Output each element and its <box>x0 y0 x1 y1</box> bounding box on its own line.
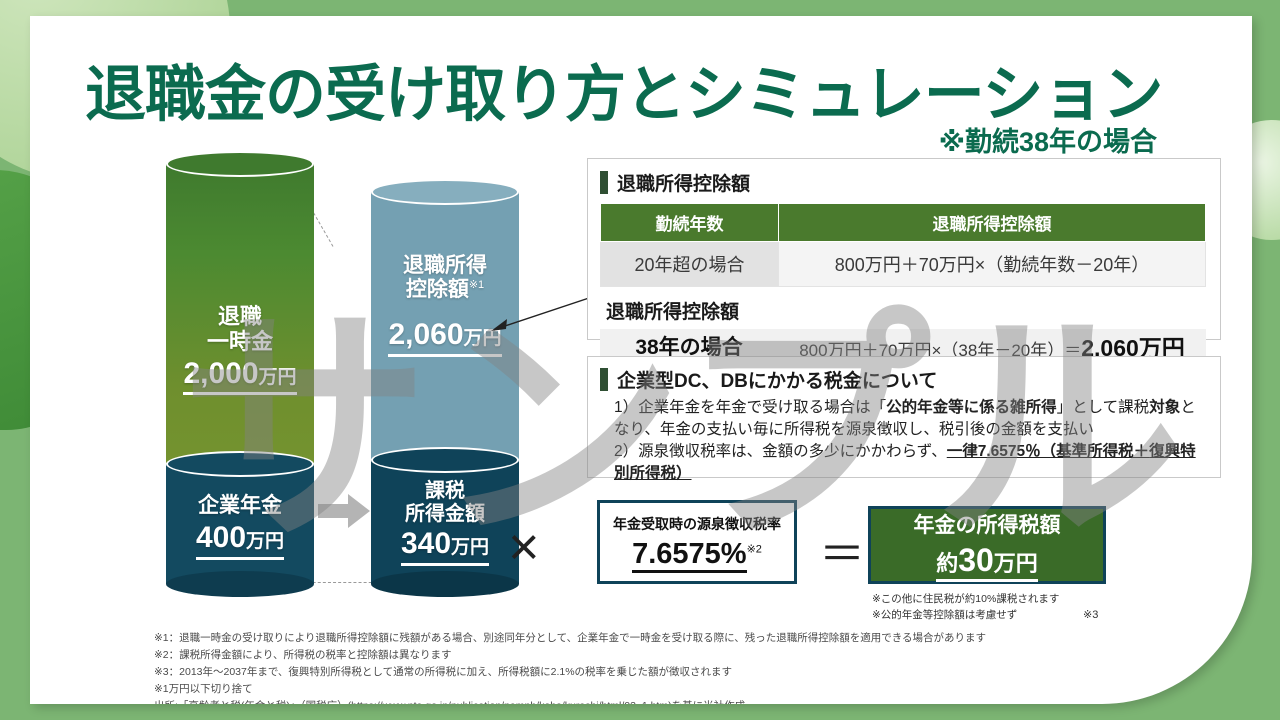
slide-card: 退職金の受け取り方とシミュレーション ※勤続38年の場合 サンプル 退職 一時金… <box>30 16 1252 704</box>
panel-dc-db-tax: 企業型DC、DBにかかる税金について 1）企業年金を年金で受け取る場合は「公的年… <box>587 356 1221 478</box>
box-withholding-rate: 年金受取時の源泉徴収税率 7.6575%※2 <box>597 500 797 584</box>
cylinder-right-bottom-cap <box>371 571 519 597</box>
result-notes: ※この他に住民税が約10%課税されます ※公的年金等控除額は考慮せず <box>872 592 1059 624</box>
multiply-operator: × <box>508 516 540 578</box>
cylinder-label-lump-sum: 退職 一時金 2,000万円 <box>166 304 314 395</box>
flow-arrow-icon <box>318 494 370 528</box>
cylinder-segment-corporate-pension: 企業年金 400万円 <box>166 464 314 584</box>
panel-tax-heading: 企業型DC、DBにかかる税金について <box>600 366 1208 393</box>
footnote-ref-2: ※2 <box>747 543 762 555</box>
cylinder-segment-lump-sum: 退職 一時金 2,000万円 <box>166 164 314 464</box>
cylinder-taxable-breakdown: 退職所得 控除額※1 2,060万円 課税 所得金額 340万円 <box>371 192 519 584</box>
panel-retirement-deduction: 退職所得控除額 勤続年数 退職所得控除額 20年超の場合 800万円＋70万円×… <box>587 158 1221 340</box>
table-header-row: 勤続年数 退職所得控除額 <box>601 204 1206 242</box>
column-header-deduction: 退職所得控除額 <box>779 204 1206 242</box>
cylinder-segment-taxable-income: 課税 所得金額 340万円 <box>371 460 519 584</box>
cylinder-current-benefit: 退職 一時金 2,000万円 企業年金 400万円 <box>166 164 314 584</box>
heading-bar-icon <box>600 171 608 194</box>
footnotes: ※1：退職一時金の受け取りにより退職所得控除額に残額がある場合、別途同年分として… <box>154 630 986 704</box>
cylinder-top-cap <box>166 151 314 177</box>
equals-operator: ＝ <box>819 518 865 584</box>
page-subtitle: ※勤続38年の場合 <box>939 120 1157 159</box>
footnote-3: ※3：2013年～2037年まで、復興特別所得税として通常の所得税に加え、所得税… <box>154 664 986 681</box>
footnote-2: ※2：課税所得金額により、所得税の税率と控除額は異なります <box>154 647 986 664</box>
heading-bar-icon <box>600 368 608 391</box>
result-value: 約30万円 <box>936 542 1038 582</box>
footnote-1: ※1：退職一時金の受け取りにより退職所得控除額に残額がある場合、別途同年分として… <box>154 630 986 647</box>
panel-tax-body: 1）企業年金を年金で受け取る場合は「公的年金等に係る雑所得」として課税対象となり… <box>600 393 1208 485</box>
cylinder-right-top-cap <box>371 179 519 205</box>
cylinder-mid-cap <box>166 451 314 477</box>
result-note-1: ※この他に住民税が約10%課税されます <box>872 592 1059 608</box>
footnote-source: 出所:「高齢者と税(年金と税)」（国税庁）(https://www.nta.go… <box>154 698 986 704</box>
panel-deduction-heading: 退職所得控除額 <box>600 169 1206 196</box>
result-note-2: ※公的年金等控除額は考慮せず <box>872 608 1059 624</box>
footnote-ref-3: ※3 <box>1083 608 1098 621</box>
cylinder-label-corporate-pension: 企業年金 400万円 <box>166 494 314 560</box>
deduction-table: 勤続年数 退職所得控除額 20年超の場合 800万円＋70万円×（勤続年数－20… <box>600 203 1206 287</box>
rate-label: 年金受取時の源泉徴収税率 <box>613 514 781 534</box>
table-row: 20年超の場合 800万円＋70万円×（勤続年数－20年） <box>601 242 1206 287</box>
tax-item-1: 1）企業年金を年金で受け取る場合は「公的年金等に係る雑所得」として課税対象となり… <box>614 397 1202 441</box>
cell-years-over20: 20年超の場合 <box>601 242 779 287</box>
cell-formula-over20: 800万円＋70万円×（勤続年数－20年） <box>779 242 1206 287</box>
rate-value-wrap: 7.6575%※2 <box>632 538 762 571</box>
box-pension-income-tax: 年金の所得税額 約30万円 <box>868 506 1106 584</box>
rate-value: 7.6575% <box>632 538 747 573</box>
footnote-ref-1: ※1 <box>469 279 484 291</box>
result-label: 年金の所得税額 <box>914 509 1061 539</box>
panel-deduction-subheading: 退職所得控除額 <box>600 297 1206 324</box>
cylinder-bottom-cap <box>166 571 314 597</box>
column-header-years: 勤続年数 <box>601 204 779 242</box>
cylinder-label-taxable-income: 課税 所得金額 340万円 <box>371 480 519 566</box>
tax-item-2: 2）源泉徴収税率は、金額の多少にかかわらず、一律7.6575％（基準所得税＋復興… <box>614 441 1202 485</box>
footnote-4: ※1万円以下切り捨て <box>154 681 986 698</box>
cylinder-right-mid-cap <box>371 447 519 473</box>
